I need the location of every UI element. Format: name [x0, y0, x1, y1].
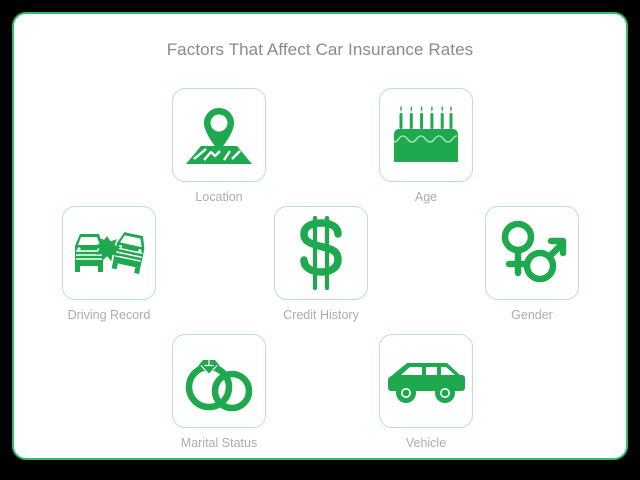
factor-tile-gender[interactable]: Gender: [485, 206, 579, 323]
page-title: Factors That Affect Car Insurance Rates: [14, 40, 626, 60]
factor-label: Gender: [485, 309, 579, 323]
factor-label: Driving Record: [62, 309, 156, 323]
dollar-sign-icon: [294, 215, 348, 291]
icon-card-location[interactable]: [172, 88, 266, 182]
icon-card-gender[interactable]: [485, 206, 579, 300]
factor-tile-location[interactable]: Location: [172, 88, 266, 205]
venus-mars-icon: [496, 219, 568, 287]
map-pin-icon: [184, 102, 254, 168]
factor-label: Credit History: [274, 309, 368, 323]
factor-label: Vehicle: [379, 437, 473, 451]
car-crash-icon: [71, 224, 147, 282]
factor-tile-vehicle[interactable]: Vehicle: [379, 334, 473, 451]
icon-card-age[interactable]: [379, 88, 473, 182]
factor-tile-age[interactable]: Age: [379, 88, 473, 205]
factor-label: Marital Status: [172, 437, 266, 451]
factor-label: Location: [172, 191, 266, 205]
factor-label: Age: [379, 191, 473, 205]
icon-card-driving-record[interactable]: [62, 206, 156, 300]
slide-frame: Factors That Affect Car Insurance Rates …: [12, 12, 628, 460]
icon-card-credit-history[interactable]: [274, 206, 368, 300]
factor-tile-credit-history[interactable]: Credit History: [274, 206, 368, 323]
icon-card-vehicle[interactable]: [379, 334, 473, 428]
wedding-rings-icon: [181, 346, 257, 416]
birthday-cake-icon: [391, 100, 461, 170]
car-side-icon: [387, 356, 465, 406]
icon-card-marital-status[interactable]: [172, 334, 266, 428]
factor-tile-driving-record[interactable]: Driving Record: [62, 206, 156, 323]
factor-tile-marital-status[interactable]: Marital Status: [172, 334, 266, 451]
